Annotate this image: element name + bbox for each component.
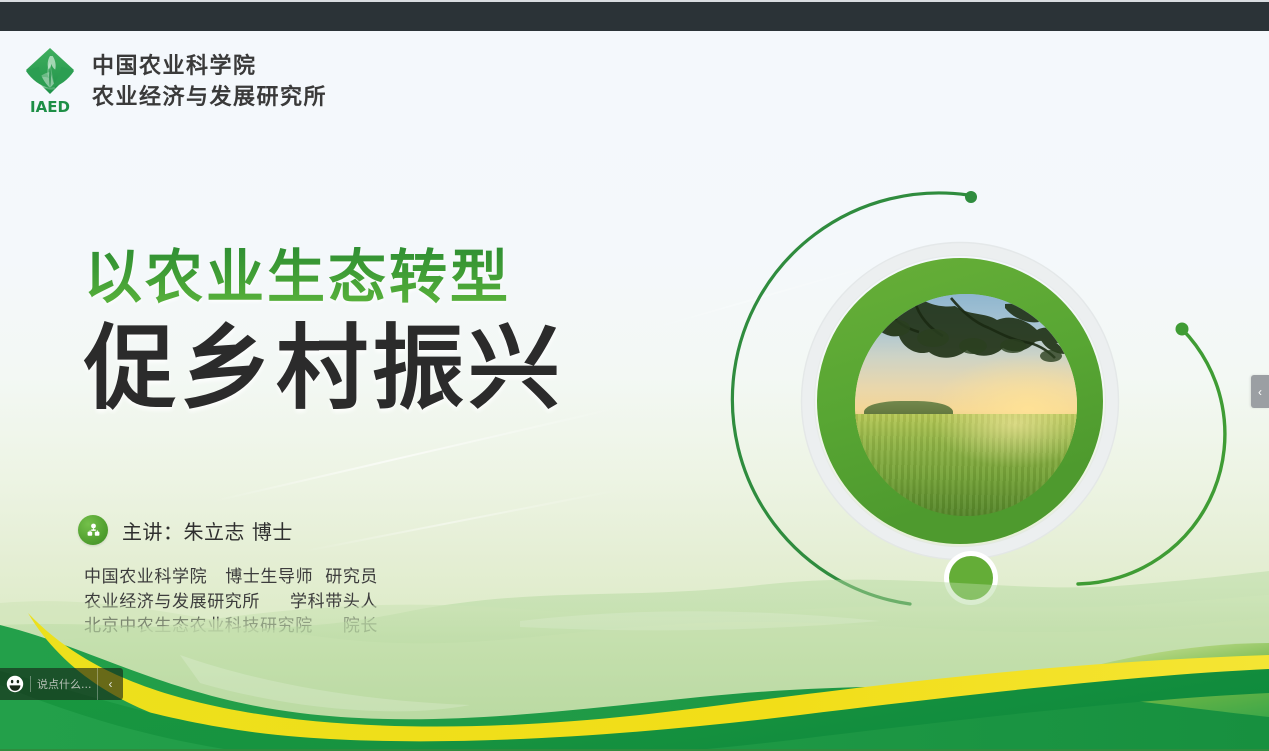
comment-input-bar[interactable]: ‹ xyxy=(0,668,123,700)
institution-name-line2: 农业经济与发展研究所 xyxy=(92,85,327,110)
slide-canvas: IAED 中国农业科学院 农业经济与发展研究所 以农业生态转型 促乡村振兴 xyxy=(0,31,1269,751)
headline-line-secondary: 促乡村振兴 xyxy=(84,319,564,418)
institution-logo: IAED 中国农业科学院 农业经济与发展研究所 xyxy=(22,46,327,118)
chevron-left-icon[interactable]: ‹ xyxy=(97,668,123,700)
slide-headline: 以农业生态转型 促乡村振兴 xyxy=(84,246,564,418)
person-group-icon xyxy=(78,515,108,545)
top-bar-hairline xyxy=(0,0,1269,2)
speaker-affiliation-line: 农业经济与发展研究所 学科带头人 xyxy=(84,590,378,615)
presentation-player: IAED 中国农业科学院 农业经济与发展研究所 以农业生态转型 促乡村振兴 xyxy=(0,0,1269,751)
speaker-affiliation-line: 中国农业科学院 博士生导师 研究员 xyxy=(84,565,378,590)
speaker-block: 主讲：朱立志 博士 中国农业科学院 博士生导师 研究员 农业经济与发展研究所 学… xyxy=(78,515,378,639)
comment-input[interactable] xyxy=(31,668,97,700)
sunset-farm-field-photo xyxy=(855,294,1077,516)
side-panel-toggle[interactable]: ‹ xyxy=(1251,375,1269,408)
smiley-face-icon[interactable] xyxy=(0,668,30,700)
institution-name-line1: 中国农业科学院 xyxy=(92,54,327,79)
iaed-leaf-logo-icon: IAED xyxy=(22,46,78,118)
speaker-headline: 主讲：朱立志 博士 xyxy=(78,515,378,545)
speaker-title: 主讲：朱立志 博士 xyxy=(122,516,293,545)
headline-line-primary: 以农业生态转型 xyxy=(84,246,564,309)
institution-name: 中国农业科学院 农业经济与发展研究所 xyxy=(92,54,327,110)
speaker-affiliation-line: 北京中农生态农业科技研究院 院长 xyxy=(84,614,378,639)
logo-abbr-text: IAED xyxy=(30,98,70,116)
photo-tree-canopy-layer xyxy=(855,294,1077,516)
speaker-affiliations: 中国农业科学院 博士生导师 研究员 农业经济与发展研究所 学科带头人 北京中农生… xyxy=(84,565,378,639)
player-top-bar[interactable] xyxy=(0,2,1269,31)
chevron-left-icon: ‹ xyxy=(1258,385,1262,399)
